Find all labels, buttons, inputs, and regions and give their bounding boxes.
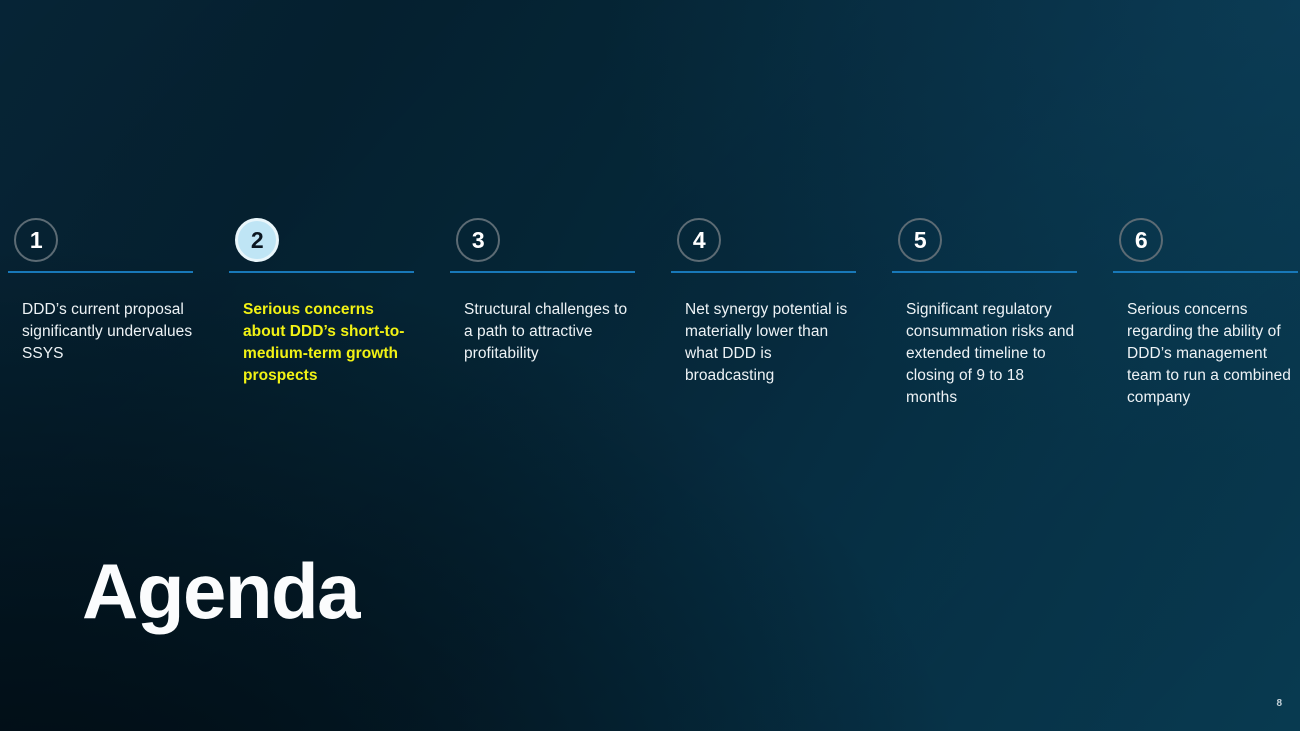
agenda-slide: 1 DDD’s current proposal significantly u… bbox=[0, 0, 1300, 731]
agenda-number-badge-6: 6 bbox=[1119, 218, 1163, 262]
agenda-divider-6 bbox=[1113, 271, 1298, 273]
page-title: Agenda bbox=[82, 552, 359, 630]
agenda-item-text-5: Significant regulatory consummation risk… bbox=[906, 299, 1077, 409]
agenda-number-badge-3: 3 bbox=[456, 218, 500, 262]
agenda-divider-1 bbox=[8, 271, 193, 273]
agenda-number-badge-2: 2 bbox=[235, 218, 279, 262]
agenda-columns: 1 DDD’s current proposal significantly u… bbox=[0, 218, 1300, 409]
agenda-number-badge-1: 1 bbox=[14, 218, 58, 262]
agenda-item-1[interactable]: 1 DDD’s current proposal significantly u… bbox=[0, 218, 221, 409]
agenda-item-text-1: DDD’s current proposal significantly und… bbox=[22, 299, 193, 365]
agenda-item-3[interactable]: 3 Structural challenges to a path to att… bbox=[442, 218, 663, 409]
agenda-item-4[interactable]: 4 Net synergy potential is materially lo… bbox=[663, 218, 884, 409]
agenda-item-5[interactable]: 5 Significant regulatory consummation ri… bbox=[884, 218, 1105, 409]
agenda-item-text-2: Serious concerns about DDD’s short-to-me… bbox=[243, 299, 414, 387]
agenda-number-badge-4: 4 bbox=[677, 218, 721, 262]
agenda-item-text-6: Serious concerns regarding the ability o… bbox=[1127, 299, 1298, 409]
agenda-divider-4 bbox=[671, 271, 856, 273]
agenda-item-2[interactable]: 2 Serious concerns about DDD’s short-to-… bbox=[221, 218, 442, 409]
agenda-item-text-4: Net synergy potential is materially lowe… bbox=[685, 299, 856, 387]
agenda-divider-3 bbox=[450, 271, 635, 273]
agenda-divider-5 bbox=[892, 271, 1077, 273]
agenda-item-text-3: Structural challenges to a path to attra… bbox=[464, 299, 635, 365]
agenda-item-6[interactable]: 6 Serious concerns regarding the ability… bbox=[1105, 218, 1300, 409]
page-number: 8 bbox=[1276, 698, 1282, 709]
agenda-divider-2 bbox=[229, 271, 414, 273]
agenda-number-badge-5: 5 bbox=[898, 218, 942, 262]
